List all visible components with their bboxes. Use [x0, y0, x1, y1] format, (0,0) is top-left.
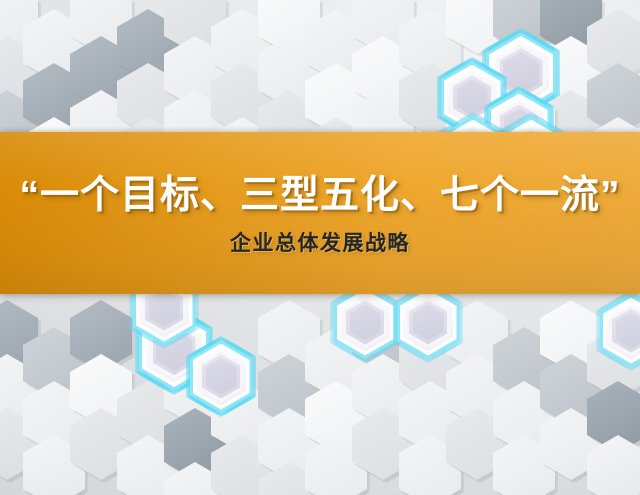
- title-banner: “一个目标、三型五化、七个一流” 企业总体发展战略: [0, 132, 640, 294]
- glowing-hexagon-icon: [330, 282, 400, 363]
- slide-canvas: “一个目标、三型五化、七个一流” 企业总体发展战略: [0, 0, 640, 495]
- slide-title: “一个目标、三型五化、七个一流”: [19, 176, 620, 215]
- slide-subtitle: 企业总体发展战略: [230, 233, 410, 254]
- glowing-hexagon-icon: [393, 282, 463, 363]
- glowing-hexagon-icon: [596, 290, 640, 371]
